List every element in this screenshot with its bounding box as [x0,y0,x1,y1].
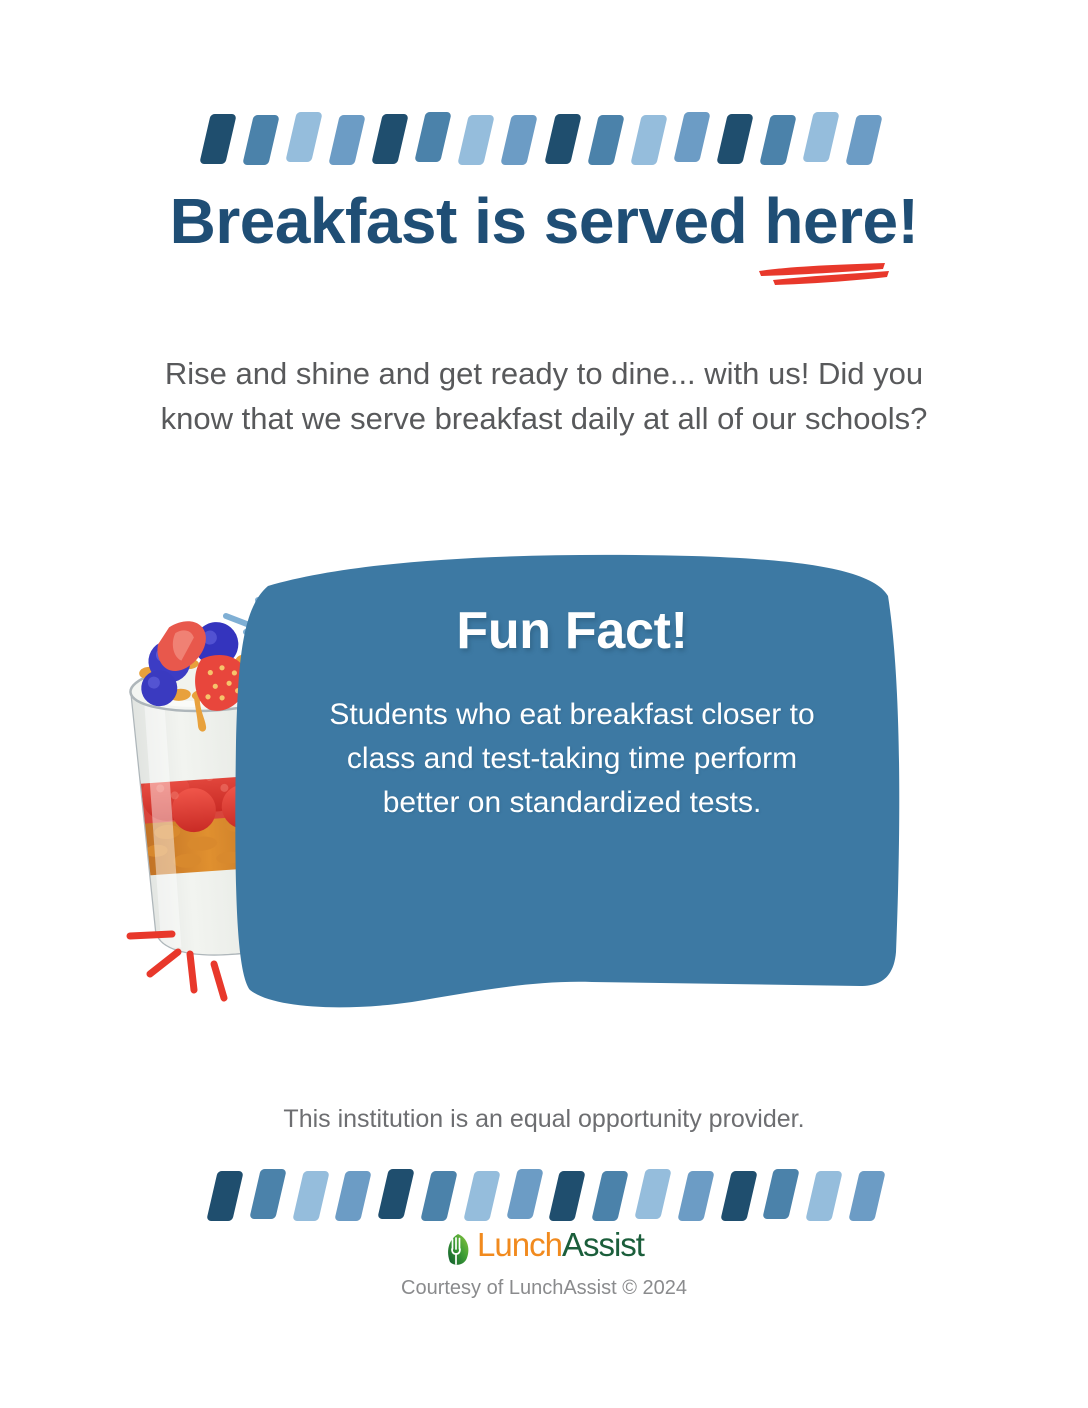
equal-opportunity-statement: This institution is an equal opportunity… [0,1105,1088,1134]
stripe-segment [677,1171,715,1221]
stripe-segment [328,115,366,165]
courtesy-credit: Courtesy of LunchAssist © 2024 [0,1277,1088,1300]
lunchassist-logo: LunchAssist [0,1232,1088,1268]
stripe-segment [845,115,883,165]
stripe-segment [292,1171,330,1221]
intro-paragraph: Rise and shine and get ready to dine... … [140,352,948,441]
logo-word-lunch: Lunch [477,1226,562,1263]
stripe-segment [458,115,496,165]
stripe-segment [549,1171,587,1221]
poster-canvas: Breakfast is served here! Rise and shine… [0,0,1088,1408]
stripe-segment [506,1169,544,1219]
stripe-segment [805,1171,843,1221]
stripe-segment [763,1169,801,1219]
stripe-segment [591,1171,629,1221]
logo-wordmark: LunchAssist [477,1245,644,1256]
stripe-segment [415,112,453,162]
stripe-segment [759,115,797,165]
stripe-segment [463,1171,501,1221]
stripe-segment [673,112,711,162]
fun-fact-panel: Fun Fact! Students who eat breakfast clo… [232,552,904,1022]
stripe-segment [242,115,280,165]
stripe-segment [634,1169,672,1219]
stripe-segment [206,1171,244,1221]
red-brushstroke-underline-icon [757,262,891,288]
stripe-segment [377,1169,415,1219]
leaf-fork-icon [444,1232,474,1268]
logo-word-assist: Assist [562,1226,644,1263]
stripe-segment [501,115,539,165]
fun-fact-title: Fun Fact! [322,604,822,659]
stripe-segment [199,114,237,164]
stripe-segment [716,114,754,164]
stripe-segment [285,112,323,162]
stripe-segment [249,1169,287,1219]
decorative-stripe-band-top [205,103,877,165]
stripe-segment [420,1171,458,1221]
stripe-segment [587,115,625,165]
stripe-segment [335,1171,373,1221]
page-title: Breakfast is served here! [0,188,1088,255]
decorative-stripe-band-bottom [212,1163,880,1221]
stripe-segment [720,1171,758,1221]
stripe-segment [630,115,668,165]
stripe-segment [544,114,582,164]
stripe-segment [802,112,840,162]
page-title-block: Breakfast is served here! [0,188,1088,255]
fun-fact-body: Students who eat breakfast closer to cla… [322,693,822,826]
stripe-segment [848,1171,886,1221]
stripe-segment [371,114,409,164]
fun-fact-content: Fun Fact! Students who eat breakfast clo… [322,604,822,826]
